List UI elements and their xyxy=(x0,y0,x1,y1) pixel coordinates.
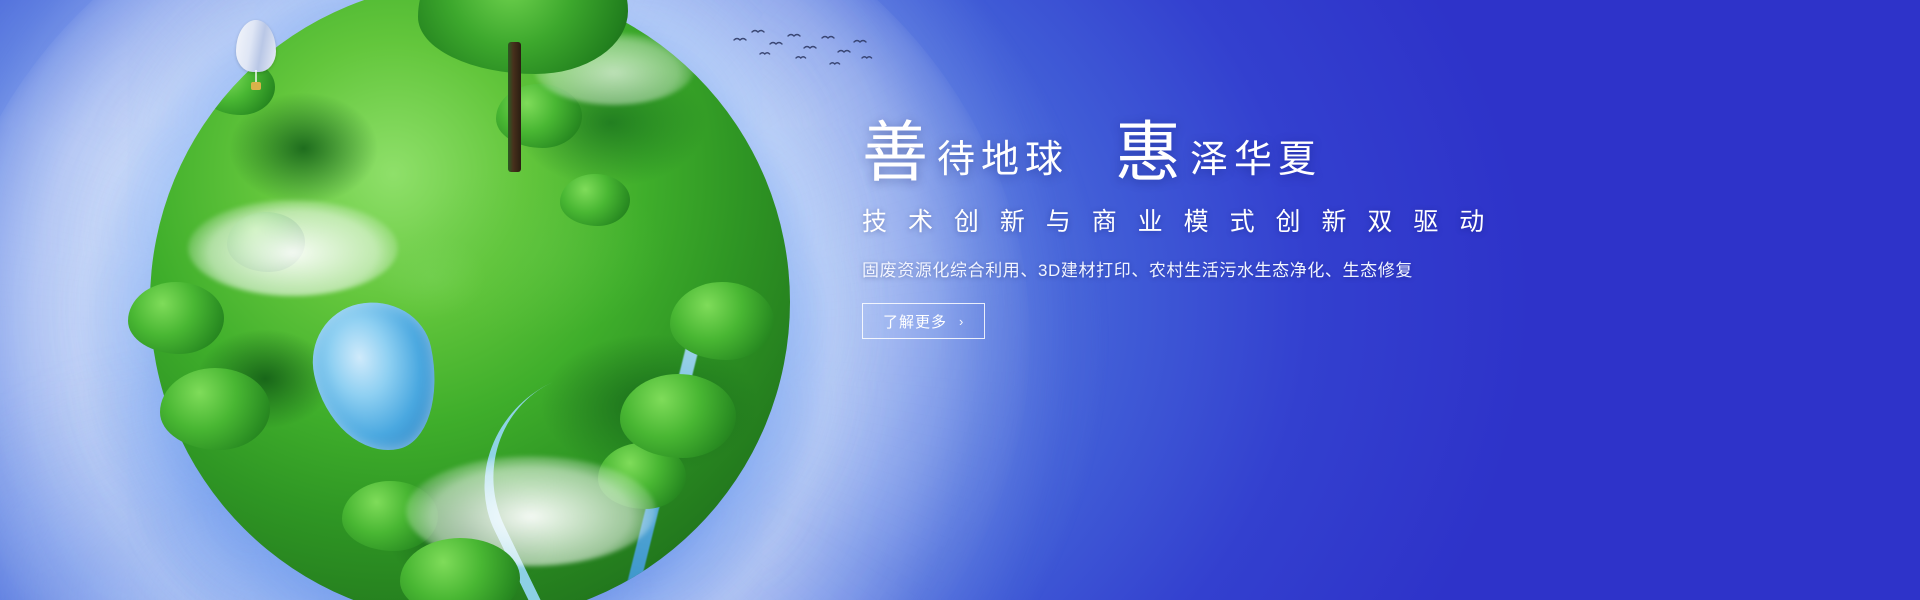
hero-content: 善 待地球 惠 泽华夏 技 术 创 新 与 商 业 模 式 创 新 双 驱 动 … xyxy=(862,118,1482,339)
tree-canopy-icon xyxy=(128,282,224,354)
balloon-envelope xyxy=(236,20,276,72)
headline-text-daidiqiu: 待地球 xyxy=(929,140,1069,178)
tree-canopy-icon xyxy=(670,282,774,360)
description: 固废资源化综合利用、3D建材打印、农村生活污水生态净化、生态修复 xyxy=(862,256,1482,281)
headline-text-zehuaxia: 泽华夏 xyxy=(1182,140,1322,178)
tree-canopy-icon xyxy=(620,374,736,458)
hero-banner: 善 待地球 惠 泽华夏 技 术 创 新 与 商 业 模 式 创 新 双 驱 动 … xyxy=(0,0,1920,600)
tree-trunk xyxy=(508,42,521,172)
birds-icon xyxy=(730,24,880,74)
planet-illustration xyxy=(150,0,790,600)
subtitle: 技 术 创 新 与 商 业 模 式 创 新 双 驱 动 xyxy=(862,202,1482,238)
headline-char-hui: 惠 xyxy=(1115,120,1182,186)
tree-canopy-icon xyxy=(342,481,438,551)
tree-canopy-icon xyxy=(560,174,630,226)
balloon-basket xyxy=(251,82,261,90)
learn-more-label: 了解更多 xyxy=(883,311,947,332)
learn-more-button[interactable]: 了解更多 › xyxy=(862,303,985,339)
headline-char-shan: 善 xyxy=(862,120,929,186)
tree-canopy-icon xyxy=(227,212,305,272)
headline: 善 待地球 惠 泽华夏 xyxy=(862,118,1482,184)
chevron-right-icon: › xyxy=(959,315,964,328)
hot-air-balloon-icon xyxy=(236,20,276,100)
tree-canopy-icon xyxy=(160,368,270,450)
